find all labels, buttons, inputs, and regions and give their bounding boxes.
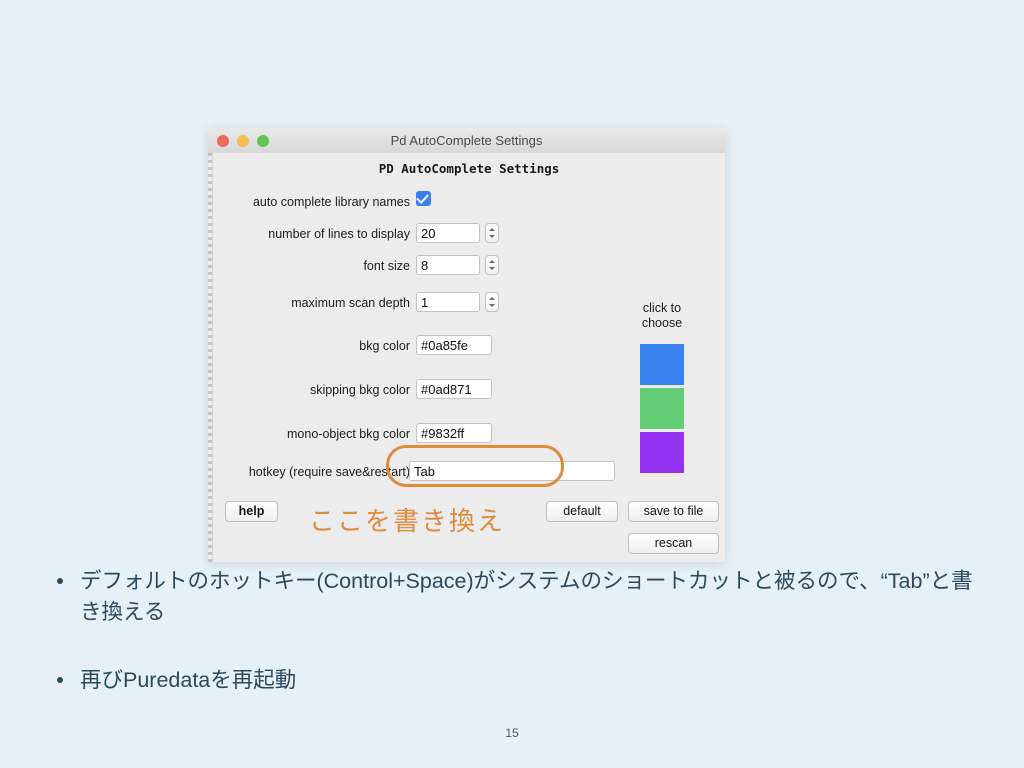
label-maximum-scan-depth: maximum scan depth — [213, 292, 410, 314]
bullet-text: 再びPuredataを再起動 — [80, 668, 296, 692]
label-hotkey: hotkey (require save&restart) — [213, 461, 410, 483]
maximum-scan-depth-input[interactable]: 1 — [416, 292, 480, 312]
default-button[interactable]: default — [546, 501, 618, 522]
maximum-scan-depth-stepper[interactable] — [485, 292, 499, 312]
skipping-bkg-color-input[interactable]: #0ad871 — [416, 379, 492, 399]
number-of-lines-stepper[interactable] — [485, 223, 499, 243]
pd-autocomplete-settings-window: Pd AutoComplete Settings PD AutoComplete… — [208, 128, 725, 562]
slide-bullet-list: デフォルトのホットキー(Control+Space)がシステムのショートカットと… — [48, 566, 978, 696]
label-auto-complete-library-names: auto complete library names — [213, 191, 410, 213]
auto-complete-library-names-checkbox[interactable] — [416, 191, 431, 206]
row-font-size: font size 8 — [213, 255, 725, 277]
label-bkg-color: bkg color — [213, 335, 410, 357]
stepper-up-icon[interactable] — [489, 297, 495, 300]
color-swatch-blue[interactable] — [640, 344, 684, 385]
hotkey-input[interactable]: Tab — [409, 461, 615, 481]
label-skipping-bkg-color: skipping bkg color — [213, 379, 410, 401]
label-mono-object-bkg-color: mono-object bkg color — [213, 423, 410, 445]
number-of-lines-input[interactable]: 20 — [416, 223, 480, 243]
checkmark-icon — [416, 191, 429, 204]
label-font-size: font size — [213, 255, 410, 277]
mono-object-bkg-color-input[interactable]: #9832ff — [416, 423, 492, 443]
page-number: 15 — [0, 726, 1024, 740]
bullet-dot-icon — [57, 578, 63, 584]
color-swatch-purple[interactable] — [640, 432, 684, 473]
rescan-button[interactable]: rescan — [628, 533, 719, 554]
bullet-dot-icon — [57, 677, 63, 683]
stepper-down-icon[interactable] — [489, 235, 495, 238]
window-title: Pd AutoComplete Settings — [208, 128, 725, 153]
panel-heading: PD AutoComplete Settings — [213, 161, 725, 176]
row-number-of-lines-to-display: number of lines to display 20 — [213, 223, 725, 245]
stepper-up-icon[interactable] — [489, 260, 495, 263]
save-to-file-button[interactable]: save to file — [628, 501, 719, 522]
row-auto-complete-library-names: auto complete library names — [213, 191, 725, 213]
stepper-down-icon[interactable] — [489, 267, 495, 270]
color-swatch-green[interactable] — [640, 388, 684, 429]
list-item: デフォルトのホットキー(Control+Space)がシステムのショートカットと… — [48, 566, 978, 628]
stepper-down-icon[interactable] — [489, 304, 495, 307]
font-size-stepper[interactable] — [485, 255, 499, 275]
font-size-input[interactable]: 8 — [416, 255, 480, 275]
color-swatch-column: click to choose — [631, 301, 717, 473]
list-item: 再びPuredataを再起動 — [48, 665, 978, 696]
stepper-up-icon[interactable] — [489, 228, 495, 231]
help-button[interactable]: help — [225, 501, 278, 522]
swatch-caption: click to choose — [631, 301, 693, 331]
bullet-text: デフォルトのホットキー(Control+Space)がシステムのショートカットと… — [80, 569, 973, 624]
label-number-of-lines-to-display: number of lines to display — [213, 223, 410, 245]
bkg-color-input[interactable]: #0a85fe — [416, 335, 492, 355]
window-titlebar[interactable]: Pd AutoComplete Settings — [208, 128, 725, 154]
annotation-text: ここを書き換え — [309, 501, 505, 538]
